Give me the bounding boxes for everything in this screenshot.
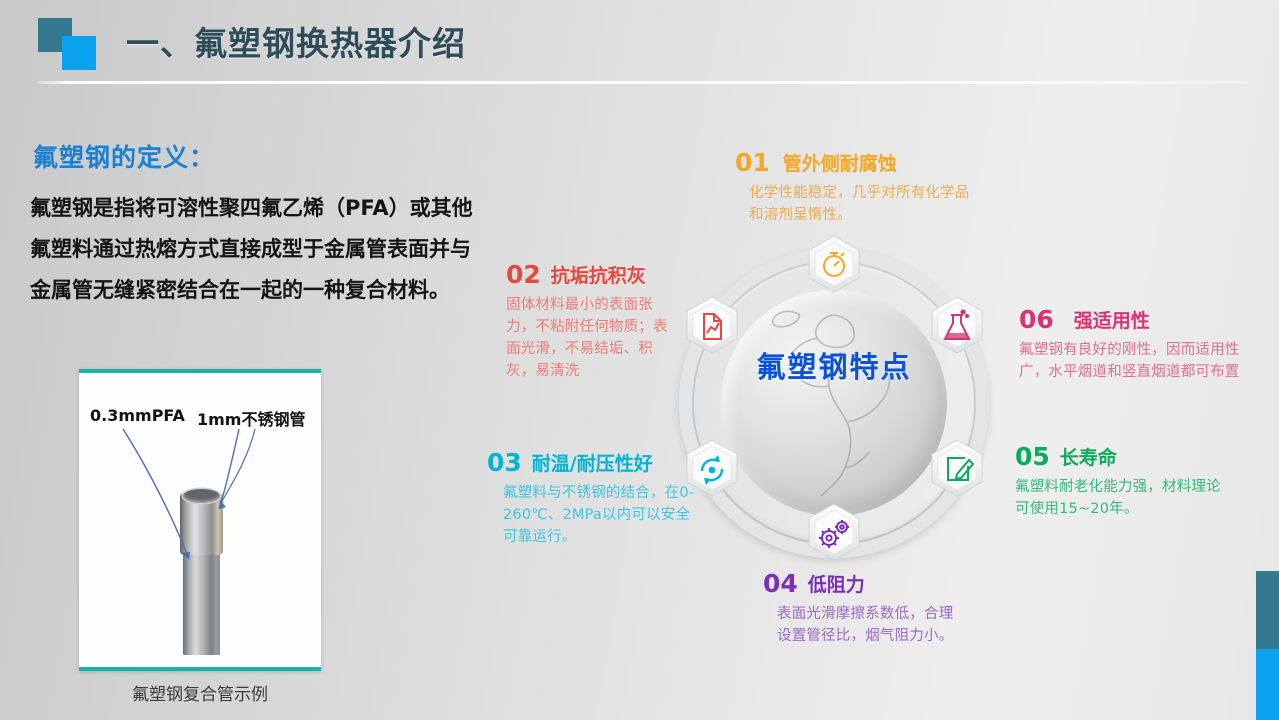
feature-title-03: 耐温/耐压性好 bbox=[532, 449, 653, 476]
stopwatch-icon[interactable] bbox=[804, 234, 864, 294]
flask-icon[interactable] bbox=[927, 295, 987, 355]
feature-item-04: 04低阻力 表面光滑摩擦系数低，合理设置管径比，烟气阻力小。 bbox=[763, 569, 963, 647]
feature-item-05: 05长寿命 氟塑料耐老化能力强，材料理论可使用15~20年。 bbox=[1015, 442, 1225, 520]
feature-number-03: 03 bbox=[487, 448, 522, 477]
feature-body-05: 氟塑料耐老化能力强，材料理论可使用15~20年。 bbox=[1015, 476, 1225, 520]
corner-square-blue-icon bbox=[1256, 649, 1279, 720]
pencil-edit-icon[interactable] bbox=[927, 438, 987, 498]
feature-number-02: 02 bbox=[506, 260, 541, 289]
feature-item-01: 01管外侧耐腐蚀 化学性能稳定，几乎对所有化学品和溶剂呈惰性。 bbox=[735, 148, 970, 226]
definition-body: 氟塑钢是指将可溶性聚四氟乙烯（PFA）或其他氟塑料通过热熔方式直接成型于金属管表… bbox=[30, 188, 490, 311]
feature-header-02: 02抗垢抗积灰 bbox=[506, 260, 681, 289]
page-title: 一、氟塑钢换热器介绍 bbox=[126, 17, 466, 65]
slide-header: 一、氟塑钢换热器介绍 bbox=[0, 0, 1279, 92]
feature-body-04: 表面光滑摩擦系数低，合理设置管径比，烟气阻力小。 bbox=[777, 603, 963, 647]
feature-body-01: 化学性能稳定，几乎对所有化学品和溶剂呈惰性。 bbox=[749, 182, 970, 226]
feature-body-06: 氟塑钢有良好的刚性，因而适用性广，水平烟道和竖直烟道都可布置 bbox=[1019, 339, 1264, 383]
feature-body-03: 氟塑料与不锈钢的结合，在0-260℃、2MPa以内可以安全可靠运行。 bbox=[503, 482, 697, 548]
feature-number-06: 06 bbox=[1019, 305, 1054, 334]
feature-number-01: 01 bbox=[735, 148, 770, 177]
gears-icon[interactable] bbox=[804, 502, 864, 562]
document-chart-icon[interactable] bbox=[682, 295, 742, 355]
feature-item-02: 02抗垢抗积灰 固体材料最小的表面张力，不粘附任何物质；表面光滑，不易结垢、积灰… bbox=[506, 260, 681, 382]
photo-caption: 氟塑钢复合管示例 bbox=[79, 680, 321, 705]
feature-number-04: 04 bbox=[763, 569, 798, 598]
feature-number-05: 05 bbox=[1015, 442, 1050, 471]
corner-square-dark-icon bbox=[1256, 571, 1279, 649]
feature-header-04: 04低阻力 bbox=[763, 569, 963, 598]
feature-item-06: 06强适用性 氟塑钢有良好的刚性，因而适用性广，水平烟道和竖直烟道都可布置 bbox=[1019, 305, 1264, 383]
title-divider bbox=[36, 81, 1248, 84]
feature-header-06: 06强适用性 bbox=[1019, 305, 1264, 334]
feature-title-05: 长寿命 bbox=[1060, 443, 1117, 470]
composite-pipe-photo: 0.3mmPFA 1mm不锈钢管 bbox=[79, 369, 321, 671]
feature-title-02: 抗垢抗积灰 bbox=[551, 261, 646, 288]
feature-title-01: 管外侧耐腐蚀 bbox=[783, 149, 897, 176]
features-infographic: 氟塑钢特点 bbox=[486, 120, 1276, 720]
feature-title-04: 低阻力 bbox=[808, 570, 865, 597]
feature-title-06: 强适用性 bbox=[1074, 306, 1150, 333]
feature-body-02: 固体材料最小的表面张力，不粘附任何物质；表面光滑，不易结垢、积灰，易清洗 bbox=[506, 294, 681, 382]
feature-header-05: 05长寿命 bbox=[1015, 442, 1225, 471]
feature-header-01: 01管外侧耐腐蚀 bbox=[735, 148, 970, 177]
header-square-blue-icon bbox=[62, 36, 96, 70]
photo-annotation-arrows-icon bbox=[79, 373, 321, 671]
feature-item-03: 03耐温/耐压性好 氟塑料与不锈钢的结合，在0-260℃、2MPa以内可以安全可… bbox=[487, 448, 697, 548]
photo-background: 0.3mmPFA 1mm不锈钢管 bbox=[79, 373, 321, 667]
feature-header-03: 03耐温/耐压性好 bbox=[487, 448, 697, 477]
definition-heading: 氟塑钢的定义： bbox=[33, 138, 215, 174]
